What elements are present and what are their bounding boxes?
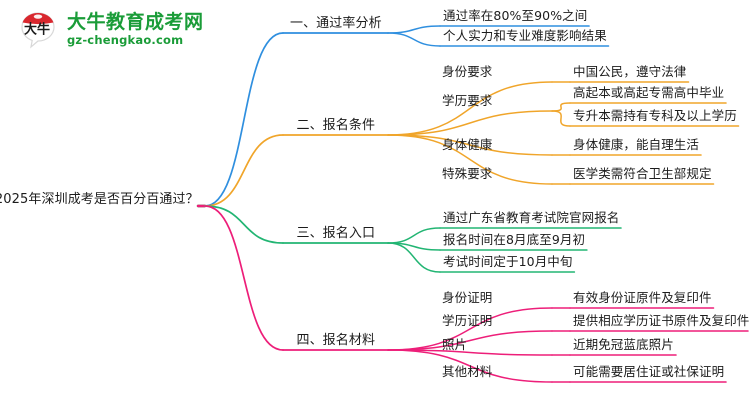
mindmap-node-l2[interactable]: 学历证明 [442,315,492,328]
mindmap-node-l2[interactable]: 照片 [442,339,467,352]
mindmap-root-node[interactable]: 2025年深圳成考是否百分百通过？ [0,193,199,206]
connector-line [205,135,283,206]
mindmap-node-l2[interactable]: 考试时间定于10月中旬 [443,256,573,269]
mindmap-node-l3[interactable]: 高起本或高起专需高中毕业 [573,87,724,100]
mindmap-node-l1[interactable]: 三、报名入口 [296,227,375,240]
mindmap-node-l2[interactable]: 个人实力和专业难度影响结果 [443,30,607,43]
connector-line [552,103,570,111]
mindmap-node-l2[interactable]: 学历要求 [442,95,492,108]
mindmap-node-l2[interactable]: 通过广东省教育考试院官网报名 [443,212,619,225]
mindmap-node-l3[interactable]: 专升本需持有专科及以上学历 [573,110,737,123]
mindmap-node-l3[interactable]: 提供相应学历证书原件及复印件 [573,315,749,328]
mindmap-node-l1[interactable]: 一、通过率分析 [290,17,382,30]
connector-line [205,33,283,206]
mindmap-node-l2[interactable]: 身份证明 [442,292,492,305]
mindmap-node-l2[interactable]: 报名时间在8月底至9月初 [443,234,585,247]
mindmap-node-l2[interactable]: 特殊要求 [442,168,492,181]
connector-line [388,331,552,350]
connector-line [205,206,283,350]
mindmap-node-l3[interactable]: 身体健康，能自理生活 [573,139,699,152]
connector-line [388,111,552,135]
connector-line [388,228,440,243]
mindmap-node-l1[interactable]: 四、报名材料 [296,334,375,347]
mindmap-node-l1[interactable]: 二、报名条件 [296,119,375,132]
mindmap-canvas: 2025年深圳成考是否百分百通过？一、通过率分析通过率在80%至90%之间个人实… [0,0,750,410]
mindmap-page: 大牛 大牛教育成考网 gz-chengkao.com 2025年深圳成考是否百分… [0,0,750,410]
connector-line [388,243,440,272]
mindmap-node-l2[interactable]: 身份要求 [442,66,492,79]
mindmap-node-l3[interactable]: 有效身份证原件及复印件 [573,292,712,305]
connector-line [388,243,440,250]
mindmap-node-l3[interactable]: 可能需要居住证或社保证明 [573,366,724,379]
connector-line [388,350,552,355]
mindmap-node-l3[interactable]: 医学类需符合卫生部规定 [573,168,712,181]
mindmap-node-l3[interactable]: 中国公民，遵守法律 [573,66,686,79]
connector-line [388,26,440,33]
connector-line [205,206,283,243]
connector-line [552,111,570,126]
connector-line [388,33,440,46]
mindmap-node-l2[interactable]: 通过率在80%至90%之间 [443,10,587,23]
mindmap-node-l2[interactable]: 身体健康 [442,139,492,152]
connector-line [388,82,552,135]
mindmap-node-l2[interactable]: 其他材料 [442,366,492,379]
mindmap-node-l3[interactable]: 近期免冠蓝底照片 [573,339,674,352]
